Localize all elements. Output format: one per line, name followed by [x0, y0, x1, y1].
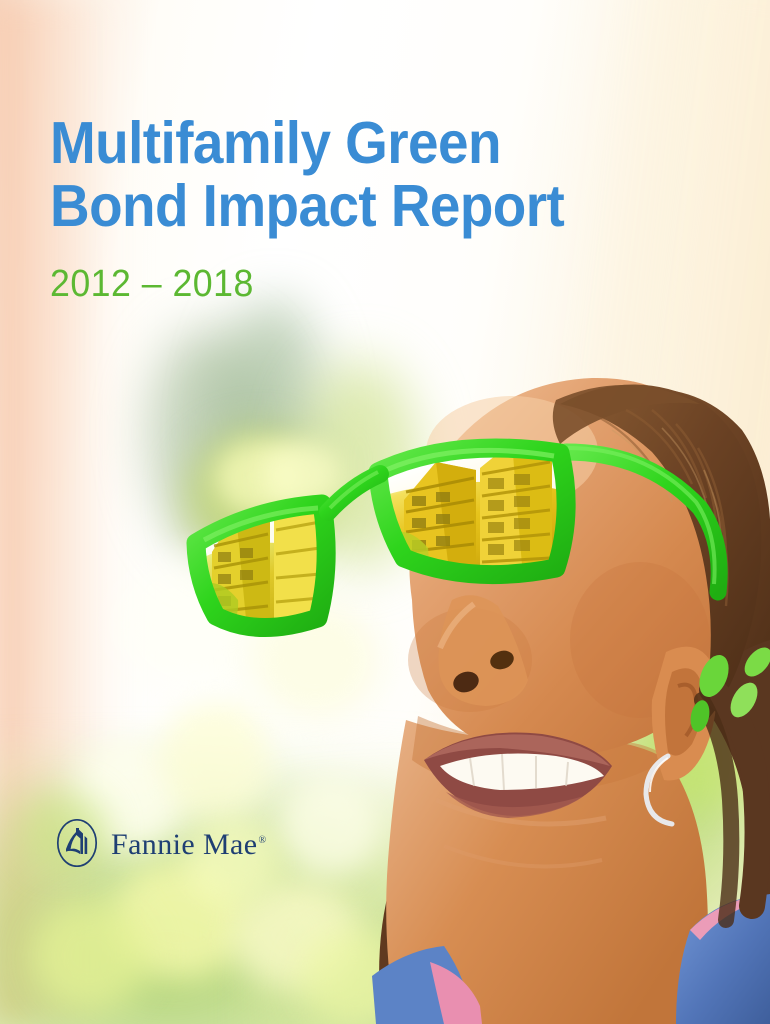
- fannie-mae-wordmark: Fannie Mae®: [111, 826, 266, 860]
- page-title: Multifamily Green Bond Impact Report: [50, 112, 608, 238]
- fannie-mae-house-oval-logo-icon: [56, 818, 98, 868]
- sunglasses-lens-left: [190, 494, 334, 640]
- registered-trademark-symbol: ®: [258, 835, 266, 846]
- report-cover-page: Multifamily Green Bond Impact Report 201…: [0, 0, 770, 1024]
- fannie-mae-logo[interactable]: Fannie Mae®: [56, 818, 266, 868]
- sunglasses-lens-right: [370, 420, 575, 596]
- report-period-subtitle: 2012 – 2018: [50, 262, 614, 306]
- cover-text-block: Multifamily Green Bond Impact Report 201…: [50, 112, 650, 306]
- brand-name: Fannie Mae: [111, 828, 257, 861]
